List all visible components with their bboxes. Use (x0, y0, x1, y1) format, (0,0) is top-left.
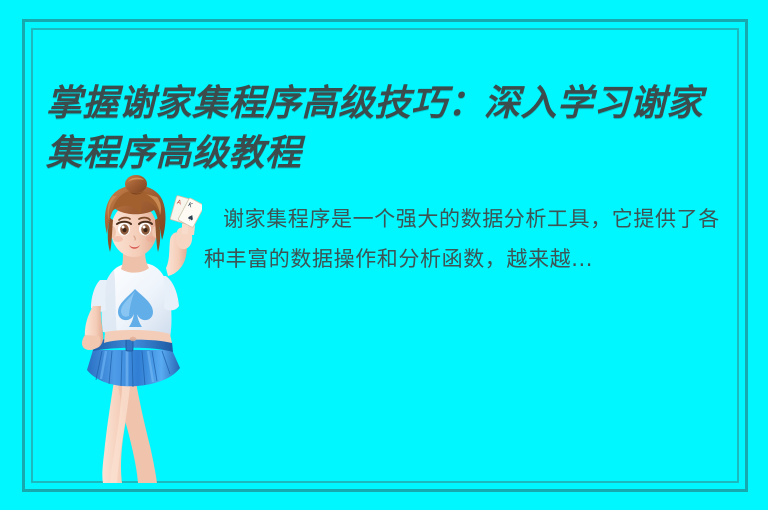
article-excerpt: 谢家集程序是一个强大的数据分析工具，它提供了各种丰富的数据操作和分析函数，越来越… (204, 199, 736, 279)
playing-cards: A ♦ K ♠ (170, 195, 202, 227)
head (105, 175, 166, 257)
page-title: 掌握谢家集程序高级技巧：深入学习谢家集程序高级教程 (46, 78, 736, 178)
right-arm: A ♦ K ♠ (166, 195, 202, 276)
skirt (87, 338, 180, 387)
left-arm (82, 306, 103, 350)
character-illustration: A ♦ K ♠ (60, 172, 202, 483)
crop-top (91, 263, 179, 343)
article-card: 掌握谢家集程序高级技巧：深入学习谢家集程序高级教程 谢家集程序是一个强大的数据分… (0, 0, 768, 510)
